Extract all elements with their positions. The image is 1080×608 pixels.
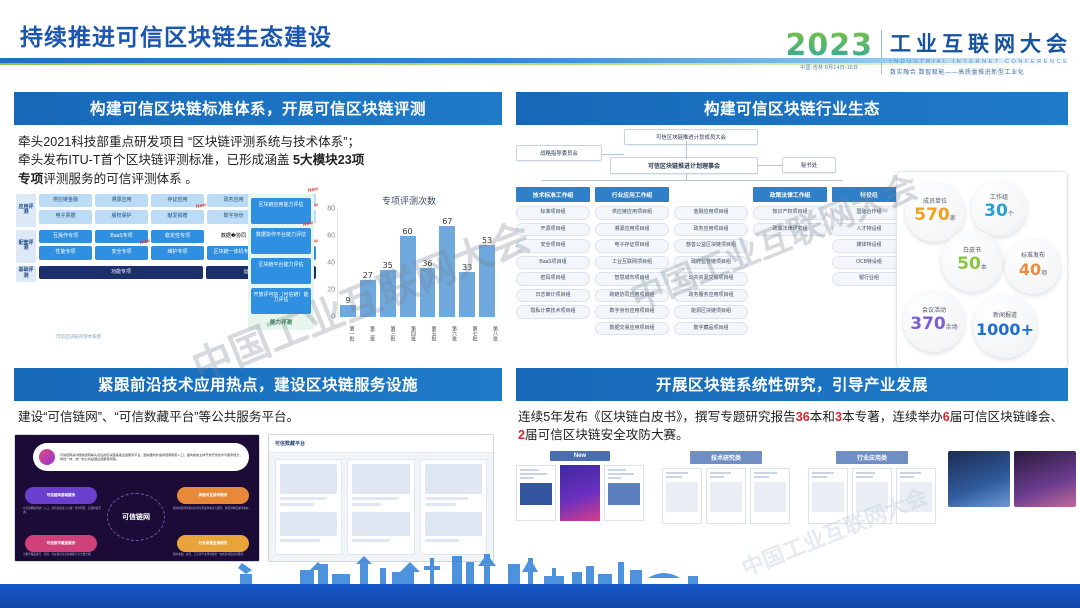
matrix-cell: 区块链应用能力评估 [251, 198, 311, 224]
workgroup-item: OCB特设组 [832, 256, 906, 270]
stat-unit: 家 [950, 215, 956, 222]
stat-bubble: 标准发布40项 [1005, 238, 1061, 294]
stat-unit: 个 [1008, 211, 1014, 218]
conference-logo: 2023 中国·吉林 8月14日-16日 工业互联网大会 INDUSTRIAL … [786, 28, 1073, 76]
matrix-capability-title: 能力评测 [251, 318, 311, 326]
org-box-committee: 战略指导委员会 [516, 145, 602, 161]
shot1-banner-text: 可信链网是中国信通院牵头建设的区块链基础设施服务平台，面向国内外提供链网服务入口… [60, 453, 243, 461]
report-cover [560, 465, 600, 521]
new-badge-icon: New [195, 203, 206, 211]
chart-x-tick: 第五批 [421, 319, 438, 349]
chart-bar-rect [420, 268, 436, 317]
stat-value: 30个 [984, 201, 1014, 221]
workgroup-item: 银行业组 [832, 272, 906, 286]
chart-y-tick: 0 [331, 313, 335, 320]
workgroup-column: 行业应用工作组2 金融应用项目组 政务应用项目组 慈善公益区块链项目组 政府监管… [674, 187, 748, 338]
stat-bubble: 白皮书50本 [941, 230, 1003, 292]
chart-y-tick: 80 [327, 205, 335, 212]
report-cover [808, 468, 848, 524]
panel-rb-title: 开展区块链系统性研究，引导产业发展 [516, 368, 1068, 401]
event-photo [1014, 451, 1076, 507]
matrix-cell: 开放评可信（可信链）能力评估 [251, 288, 311, 314]
chart-x-axis-labels: 第一批第二批第三批第四批第五批第六批第七批第八批 [339, 319, 499, 349]
shot2-line [280, 539, 320, 542]
shot2-card [275, 459, 342, 555]
event-photo [948, 451, 1010, 507]
rb-t5: 6 [943, 410, 950, 424]
org-box-assembly: 可信区块链推进计划成员大会 [624, 129, 758, 145]
workgroup-item: 数字身份应用项目组 [595, 305, 669, 319]
shot2-thumb [425, 512, 482, 536]
report-covers [662, 468, 790, 524]
chart-bar: 27 [360, 209, 376, 317]
report-group-industry: 行业应用类 [808, 451, 936, 524]
event-photos [948, 451, 1080, 524]
matrix-cell: 功能专项 [39, 266, 203, 280]
ecosystem-stats-card: 成员单位570家工作组30个白皮书50本标准发布40项会议活动370余场新闻报道… [896, 171, 1068, 369]
workgroup-item: 智慧城市项目组 [595, 272, 669, 286]
stat-bubble: 工作组30个 [971, 180, 1027, 236]
matrix-cell: 维护专项 [151, 246, 204, 260]
chart-title: 专项评测次数 [319, 194, 499, 207]
matrix-cell: 献爱捐赠New [151, 210, 204, 224]
chart-bar: 33 [459, 209, 475, 317]
matrix-capability-column: 区块链应用能力评估 数据协作平台能力评估New 区块链平台能力评估 开放评可信（… [248, 194, 314, 330]
lt-para-1: 牵头2021科技部重点研发项目 “区块链评测系统与技术体系”； [18, 133, 498, 151]
workgroup-item: 跨链协同应用项目组 [595, 289, 669, 303]
report-cover [516, 465, 556, 521]
org-chart-top: 战略指导委员会 可信区块链推进计划成员大会 可信区块链推进计划理事会 秘书处 [516, 129, 906, 181]
matrix-cell: 互操作专项 [39, 230, 92, 244]
shot2-card [420, 459, 487, 555]
workgroup-header: 政策法律工作组 [753, 187, 827, 202]
workgroup-item: 日志审计项目组 [516, 289, 590, 303]
logo-text-block: 工业互联网大会 INDUSTRIAL INTERNET CONFERENCE 数… [890, 28, 1072, 76]
matrix-cell: 稳定性专项 [151, 230, 204, 244]
matrix-cell: 安全专项New [95, 246, 148, 260]
workgroup-column: 政策法律工作组 知识产权项目组 政策法律研究组 [753, 187, 827, 338]
chart-bar-rect [340, 305, 356, 317]
shot1-pill: 跨链与互操作服务 [177, 487, 249, 504]
report-cover [896, 468, 936, 524]
workgroup-item: 溯源应用项目组 [595, 223, 669, 237]
matrix-cell: 区块链平台能力评估 [251, 258, 311, 284]
workgroup-item: 政务服务应用项目组 [674, 289, 748, 303]
shot2-line [352, 503, 381, 506]
stat-value: 40项 [1019, 260, 1047, 279]
shot2-line [425, 497, 468, 500]
workgroup-item: 标准项目组 [516, 206, 590, 220]
panel-lb-title: 紧跟前沿技术应用热点，建设区块链服务设施 [14, 368, 502, 401]
stat-value: 1000+ [976, 320, 1034, 339]
logo-year-subtitle: 中国·吉林 8月14日-16日 [786, 64, 874, 71]
rb-t3: 3 [835, 410, 842, 424]
rb-t8: 届可信区块链安全攻防大赛。 [525, 428, 689, 442]
report-covers [808, 468, 936, 524]
chart-y-tick: 60 [327, 232, 335, 239]
panel-lb-description: 建设“可信链网”、“可信数藏平台”等公共服务平台。 [14, 408, 502, 426]
lt-para-3b: 评测服务的可信评测体系 。 [43, 172, 198, 186]
matrix-row-label: 配套评测 [16, 230, 36, 263]
workgroup-item: 供应链应用项目组 [595, 206, 669, 220]
shot1-logo-icon [39, 449, 55, 465]
panel-lt-graphics: 应用评测 供应链金融 溯源应用 存证应用 政务应用 数字藏品New 电子票据 版… [14, 194, 502, 342]
shot2-thumb [425, 464, 482, 494]
report-cover [750, 468, 790, 524]
chart-plot-area: 020406080 927356036673353 [337, 209, 495, 317]
chart-bars: 927356036673353 [340, 209, 495, 317]
screenshot-digital-collection-platform: 可信数藏平台 [268, 434, 494, 562]
new-badge-icon: New [139, 239, 150, 247]
page-title: 持续推进可信区块链生态建设 [20, 18, 332, 52]
panel-rb-description: 连续5年发布《区块链白皮书》，撰写专题研究报告36本和3本专著，连续举办6届可信… [516, 408, 1068, 445]
chart-bar: 53 [479, 209, 495, 317]
shot1-center-label: 可信链网 [107, 493, 165, 541]
panel-rt-title: 构建可信区块链行业生态 [516, 92, 1068, 125]
matrix-cell: 性能专项 [39, 246, 92, 260]
new-badge-icon: New [302, 221, 313, 229]
chart-y-tick: 20 [327, 286, 335, 293]
shot1-pill: 行业场景应用服务 [177, 535, 249, 552]
workgroup-item: 慈善公益区块链项目组 [674, 239, 748, 253]
report-group-technical: 技术研究类 [662, 451, 790, 524]
shot2-card [347, 459, 414, 555]
shot1-pill: 可信链网基础服务 [25, 487, 97, 504]
chart-bar-value: 33 [462, 263, 472, 272]
workgroup-column: 技术标准工作组 标准项目组 开源项目组 安全项目组 BaaS项目组 密码项目组 … [516, 187, 590, 338]
matrix-cell: 版权保护 [95, 210, 148, 224]
stat-value: 370余场 [910, 314, 958, 334]
chart-bar: 36 [420, 209, 436, 317]
rb-t1: 36 [796, 410, 810, 424]
shot2-thumb [352, 464, 409, 494]
panel-rt-body: 战略指导委员会 可信区块链推进计划成员大会 可信区块链推进计划理事会 秘书处 技… [516, 129, 1068, 379]
report-group-new: New [516, 451, 644, 524]
org-connector [542, 180, 842, 181]
panel-industry-ecosystem: 构建可信区块链行业生态 战略指导委员会 可信区块链推进计划成员大会 可信区块链推… [516, 92, 1068, 379]
lt-highlight-1: 5大模块23项 [293, 153, 364, 167]
chart-x-tick: 第七批 [462, 319, 479, 349]
stat-label: 会议活动 [922, 308, 946, 315]
org-box-secretariat: 秘书处 [782, 157, 836, 173]
workgroup-item: 隐私计算技术项目组 [516, 305, 590, 319]
workgroup-item: 能源区块链项目组 [674, 305, 748, 319]
chart-bar-value: 9 [345, 296, 350, 305]
chart-bar-rect [380, 270, 396, 317]
stat-label: 成员单位 [923, 199, 947, 206]
workgroup-header: 行业应用工作组 [595, 187, 669, 202]
chart-bar-value: 67 [442, 217, 452, 226]
chart-bar: 9 [340, 209, 356, 317]
shot2-header: 可信数藏平台 [269, 435, 493, 453]
panel-lt-description: 牵头2021科技部重点研发项目 “区块链评测系统与技术体系”； 牵头发布ITU-… [14, 133, 502, 188]
workgroup-header: 技术标准工作组 [516, 187, 590, 202]
panel-standards-evaluation: 构建可信区块链标准体系，开展可信区块链评测 牵头2021科技部重点研发项目 “区… [14, 92, 502, 342]
shot1-banner: 可信链网是中国信通院牵头建设的区块链基础设施服务平台，面向国内外提供链网服务入口… [33, 443, 249, 471]
org-connector [686, 141, 687, 159]
chart-bar-rect [400, 236, 416, 317]
report-group-header: 技术研究类 [690, 451, 762, 464]
chart-x-tick: 第八批 [483, 319, 500, 349]
chart-bar-rect [479, 245, 495, 317]
org-chart: 战略指导委员会 可信区块链推进计划成员大会 可信区块链推进计划理事会 秘书处 技… [516, 129, 906, 338]
workgroup-column: 特设组 国际合作组 人才特设组 媒体特设组 OCB特设组 银行业组 [832, 187, 906, 338]
chart-bar: 60 [400, 209, 416, 317]
stat-value: 570家 [914, 205, 956, 225]
shot1-caption: 面向跨链场景提供标准化互操作协议与服务，降低异构链协同成本。 [173, 507, 251, 511]
stat-value: 50本 [957, 254, 987, 274]
report-covers [516, 465, 644, 521]
chart-x-tick: 第二批 [360, 319, 377, 349]
shot2-line [280, 497, 326, 500]
logo-chinese-name: 工业互联网大会 [890, 28, 1072, 58]
matrix-cell: 供应链金融 [39, 194, 92, 208]
workgroup-item: BaaS项目组 [516, 256, 590, 270]
report-cover [604, 465, 644, 521]
matrix-cell: 电子票据 [39, 210, 92, 224]
footer-decoration [0, 554, 1080, 608]
workgroup-item: 数据交易应用项目组 [595, 322, 669, 336]
report-cover [706, 468, 746, 524]
screenshot-trusted-chain-network: 可信链网是中国信通院牵头建设的区块链基础设施服务平台，面向国内外提供链网服务入口… [14, 434, 260, 562]
evaluation-matrix-diagram: 应用评测 供应链金融 溯源应用 存证应用 政务应用 数字藏品New 电子票据 版… [16, 194, 316, 286]
workgroup-item: 公共资源交易项目组 [674, 272, 748, 286]
org-box-council: 可信区块链推进计划理事会 [610, 157, 758, 174]
shot2-line [352, 539, 389, 542]
panel-lt-title: 构建可信区块链标准体系，开展可信区块链评测 [14, 92, 502, 125]
chart-bar-rect [360, 280, 376, 316]
rb-t2: 本和 [810, 410, 835, 424]
report-cover [852, 468, 892, 524]
panel-lb-screenshots: 可信链网是中国信通院牵头建设的区块链基础设施服务平台，面向国内外提供链网服务入口… [14, 434, 502, 562]
org-connector [758, 165, 782, 166]
workgroup-item: 电子存证项目组 [595, 239, 669, 253]
rb-t0: 连续5年发布《区块链白皮书》，撰写专题研究报告 [518, 410, 796, 424]
panel-systematic-research: 开展区块链系统性研究，引导产业发展 连续5年发布《区块链白皮书》，撰写专题研究报… [516, 368, 1068, 524]
shot2-line [280, 503, 314, 506]
panel-rb-gallery: New 技术研究类 [516, 451, 1068, 524]
workgroup-item: 金融应用项目组 [674, 206, 748, 220]
stat-unit: 本 [981, 264, 987, 271]
shot2-card-grid [275, 459, 487, 555]
logo-year: 2023 [786, 28, 874, 63]
footer-band [0, 584, 1080, 608]
workgroup-item: 密码项目组 [516, 272, 590, 286]
logo-divider [881, 30, 882, 74]
workgroup-item: 人才特设组 [832, 223, 906, 237]
rb-t4: 本专著，连续举办 [842, 410, 943, 424]
chart-bar: 35 [380, 209, 396, 317]
chart-bar: 67 [439, 209, 455, 317]
chart-y-tick: 40 [327, 259, 335, 266]
city-skyline-icon [0, 554, 1080, 586]
bar-chart-evaluation-counts: 专项评测次数 020406080 927356036673353 第一批第二批第… [319, 194, 499, 342]
matrix-row-label: 应用评测 [16, 194, 36, 227]
workgroup-item: 数字藏品项目组 [674, 322, 748, 336]
chart-bar-value: 27 [363, 271, 373, 280]
shot2-thumb [352, 512, 409, 536]
chart-x-tick: 第四批 [401, 319, 418, 349]
workgroup-item: 政策法律研究组 [753, 223, 827, 237]
stat-bubble: 新闻报道1000+ [973, 294, 1037, 358]
org-connector [602, 154, 624, 155]
chart-bar-value: 36 [422, 259, 432, 268]
report-cover [662, 468, 702, 524]
shot1-pill: 可信数字藏品服务 [25, 535, 97, 552]
workgroup-item: 政府监管链项目组 [674, 256, 748, 270]
stat-bubble: 会议活动370余场 [903, 290, 965, 352]
logo-year-block: 2023 中国·吉林 8月14日-16日 [786, 28, 882, 71]
stat-unit: 余场 [946, 324, 958, 331]
stat-unit: 项 [1041, 270, 1047, 277]
workgroup-column: 行业应用工作组 供应链应用项目组 溯源应用项目组 电子存证项目组 工业互联网项目… [595, 187, 669, 338]
lt-para-2a: 牵头发布ITU-T首个区块链评测标准，已形成涵盖 [18, 153, 293, 167]
chart-bar-value: 35 [383, 261, 393, 270]
stat-label: 新闻报道 [993, 313, 1017, 320]
shot2-thumb [280, 512, 337, 536]
chart-bar-value: 60 [402, 227, 412, 236]
chart-bar-rect [459, 272, 475, 317]
report-group-header: New [550, 451, 610, 461]
chart-bar-rect [439, 226, 455, 316]
matrix-row-label: 基础评测 [16, 266, 36, 283]
stat-label: 工作组 [990, 195, 1008, 202]
shot2-thumb [280, 464, 337, 494]
shot2-line [352, 497, 398, 500]
workgroup-header: 特设组 [832, 187, 906, 202]
logo-english-name: INDUSTRIAL INTERNET CONFERENCE [890, 59, 1072, 65]
report-group-header: 行业应用类 [836, 451, 908, 464]
panel-service-infrastructure: 紧跟前沿技术应用热点，建设区块链服务设施 建设“可信链网”、“可信数藏平台”等公… [14, 368, 502, 562]
lt-para-2: 牵头发布ITU-T首个区块链评测标准，已形成涵盖 5大模块23项 [18, 151, 498, 169]
chart-x-tick: 第一批 [339, 319, 356, 349]
workgroup-item: 开源项目组 [516, 223, 590, 237]
rb-t7: 2 [518, 428, 525, 442]
shot2-line [425, 539, 459, 542]
chart-bar-value: 53 [482, 236, 492, 245]
workgroup-item: 知识产权项目组 [753, 206, 827, 220]
chart-y-axis: 020406080 [320, 209, 338, 317]
workgroup-item: 媒体特设组 [832, 239, 906, 253]
workgroup-item: 国际合作组 [832, 206, 906, 220]
stat-label: 白皮书 [963, 248, 981, 255]
stat-label: 标准发布 [1021, 253, 1045, 260]
chart-x-tick: 第三批 [380, 319, 397, 349]
org-workgroup-columns: 技术标准工作组 标准项目组 开源项目组 安全项目组 BaaS项目组 密码项目组 … [516, 187, 906, 338]
matrix-cell: 溯源应用 [95, 194, 148, 208]
lt-para-3: 专项评测服务的可信评测体系 。 [18, 170, 498, 188]
matrix-caption: 可信区块链评测体系图 [56, 334, 101, 340]
chart-x-tick: 第六批 [442, 319, 459, 349]
matrix-cell: 数据协作平台能力评估New [251, 228, 311, 254]
rb-t6: 届可信区块链峰会、 [950, 410, 1063, 424]
shot2-line [425, 503, 457, 506]
lt-highlight-2: 专项 [18, 172, 43, 186]
shot1-caption: 可信链网提供统一入口，支持多链接入与统一身份管理，实现跨链互通。 [23, 507, 101, 515]
workgroup-item: 安全项目组 [516, 239, 590, 253]
workgroup-item: 工业互联网项目组 [595, 256, 669, 270]
workgroup-item: 政务应用项目组 [674, 223, 748, 237]
logo-tagline: 数实融合 数智赋能——高质量推进新型工业化 [890, 67, 1072, 76]
